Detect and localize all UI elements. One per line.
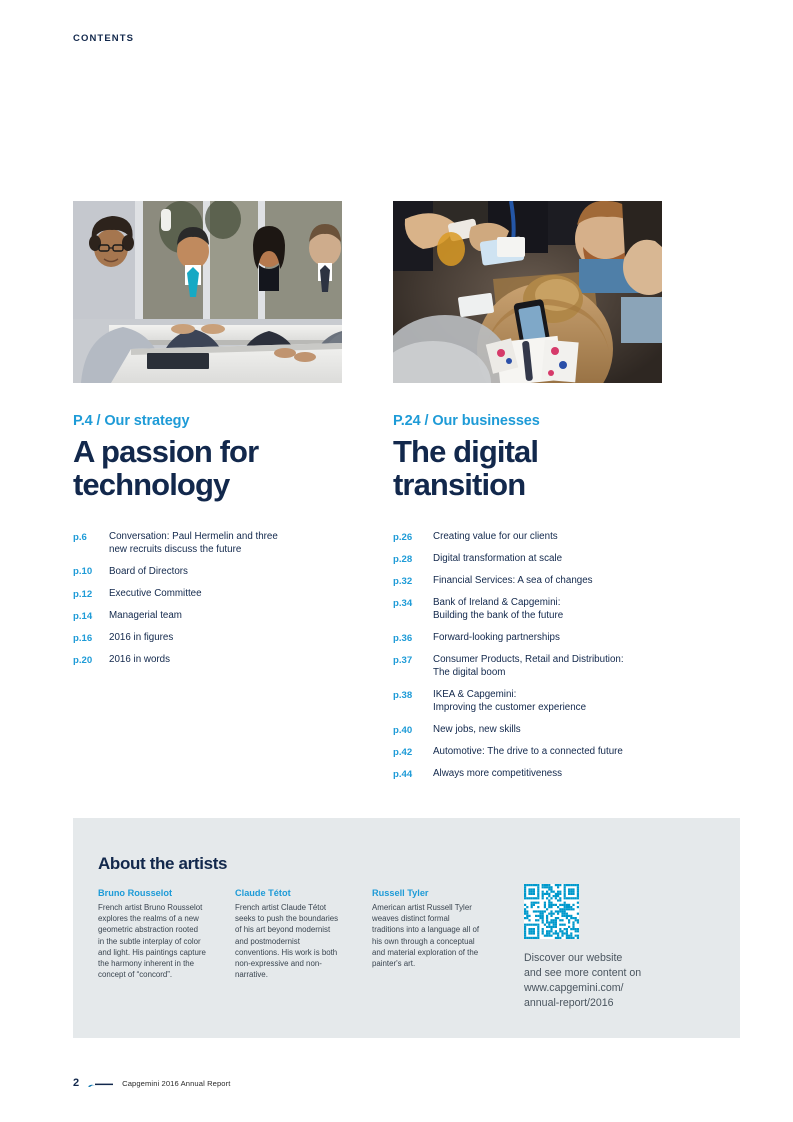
artist-name: Bruno Rousselot [98, 888, 206, 900]
website-promo-block: Discover our website and see more conten… [524, 884, 641, 1011]
page-footer: 2 Capgemini 2016 Annual Report [73, 1077, 230, 1089]
toc-list-our-businesses: p.26Creating value for our clientsp.28Di… [393, 531, 703, 791]
toc-entry-title: Board of Directors [109, 566, 383, 579]
photo-our-businesses [393, 201, 662, 383]
toc-entry[interactable]: p.32Financial Services: A sea of changes [393, 575, 703, 588]
toc-entry[interactable]: p.6Conversation: Paul Hermelin and three… [73, 531, 383, 557]
toc-entry-page: p.28 [393, 553, 433, 566]
toc-entry-title: Conversation: Paul Hermelin and three ne… [109, 531, 383, 557]
toc-entry-page: p.26 [393, 531, 433, 544]
toc-entry-title: 2016 in words [109, 654, 383, 667]
column-our-strategy: P.4 / Our strategy A passion for technol… [73, 414, 373, 501]
artist-block-bruno-rousselot: Bruno Rousselot French artist Bruno Rous… [98, 888, 206, 980]
toc-entry-page: p.37 [393, 654, 433, 667]
toc-entry-page: p.32 [393, 575, 433, 588]
artist-block-russell-tyler: Russell Tyler American artist Russell Ty… [372, 888, 480, 969]
footer-page-number: 2 [73, 1077, 79, 1089]
toc-list-our-strategy: p.6Conversation: Paul Hermelin and three… [73, 531, 383, 677]
toc-entry[interactable]: p.10Board of Directors [73, 566, 383, 579]
toc-entry-page: p.20 [73, 654, 109, 667]
toc-entry-title: Executive Committee [109, 588, 383, 601]
column-our-businesses: P.24 / Our businesses The digital transi… [393, 414, 693, 501]
toc-entry[interactable]: p.37Consumer Products, Retail and Distri… [393, 654, 703, 680]
toc-entry-title: Consumer Products, Retail and Distributi… [433, 654, 703, 680]
artist-bio: French artist Bruno Rousselot explores t… [98, 902, 206, 981]
artist-name: Russell Tyler [372, 888, 480, 900]
toc-entry[interactable]: p.202016 in words [73, 654, 383, 667]
toc-entry-title: Creating value for our clients [433, 531, 703, 544]
toc-entry-title: 2016 in figures [109, 632, 383, 645]
photo-our-strategy-image [73, 201, 342, 383]
artists-panel-title: About the artists [98, 854, 227, 874]
toc-entry-title: Managerial team [109, 610, 383, 623]
toc-entry[interactable]: p.40New jobs, new skills [393, 724, 703, 737]
footer-text: Capgemini 2016 Annual Report [122, 1079, 230, 1088]
toc-entry[interactable]: p.12Executive Committee [73, 588, 383, 601]
toc-entry[interactable]: p.44Always more competitiveness [393, 768, 703, 781]
toc-entry-title: Bank of Ireland & Capgemini: Building th… [433, 597, 703, 623]
toc-entry[interactable]: p.38IKEA & Capgemini: Improving the cust… [393, 689, 703, 715]
toc-entry[interactable]: p.34Bank of Ireland & Capgemini: Buildin… [393, 597, 703, 623]
capgemini-logo-icon [87, 1078, 115, 1089]
toc-entry-title: Always more competitiveness [433, 768, 703, 781]
toc-entry-page: p.14 [73, 610, 109, 623]
toc-entry-page: p.6 [73, 531, 109, 544]
photo-our-strategy [73, 201, 342, 383]
about-the-artists-panel: About the artists Bruno Rousselot French… [73, 818, 740, 1038]
toc-entry-page: p.40 [393, 724, 433, 737]
toc-entry-page: p.34 [393, 597, 433, 610]
page-section-label: CONTENTS [73, 33, 134, 44]
toc-entry[interactable]: p.42Automotive: The drive to a connected… [393, 746, 703, 759]
toc-entry-title: New jobs, new skills [433, 724, 703, 737]
toc-entry-page: p.44 [393, 768, 433, 781]
toc-entry-page: p.36 [393, 632, 433, 645]
toc-entry-page: p.38 [393, 689, 433, 702]
kicker-our-businesses: P.24 / Our businesses [393, 414, 693, 430]
artist-name: Claude Tétot [235, 888, 343, 900]
toc-entry-title: Digital transformation at scale [433, 553, 703, 566]
toc-entry[interactable]: p.28Digital transformation at scale [393, 553, 703, 566]
toc-entry-page: p.10 [73, 566, 109, 579]
toc-entry-page: p.16 [73, 632, 109, 645]
toc-entry[interactable]: p.14Managerial team [73, 610, 383, 623]
qr-code-icon[interactable] [524, 884, 579, 939]
toc-entry[interactable]: p.36Forward-looking partnerships [393, 632, 703, 645]
toc-entry[interactable]: p.26Creating value for our clients [393, 531, 703, 544]
website-promo-text: Discover our website and see more conten… [524, 951, 641, 1011]
toc-entry-title: IKEA & Capgemini: Improving the customer… [433, 689, 703, 715]
toc-entry[interactable]: p.162016 in figures [73, 632, 383, 645]
artist-bio: French artist Claude Tétot seeks to push… [235, 902, 343, 981]
artist-block-claude-tetot: Claude Tétot French artist Claude Tétot … [235, 888, 343, 980]
kicker-our-strategy: P.4 / Our strategy [73, 414, 373, 430]
toc-entry-page: p.12 [73, 588, 109, 601]
toc-entry-title: Forward-looking partnerships [433, 632, 703, 645]
photo-our-businesses-image [393, 201, 662, 383]
headline-our-strategy: A passion for technology [73, 435, 373, 501]
headline-our-businesses: The digital transition [393, 435, 693, 501]
artist-bio: American artist Russell Tyler weaves dis… [372, 902, 480, 969]
toc-entry-title: Automotive: The drive to a connected fut… [433, 746, 703, 759]
toc-entry-title: Financial Services: A sea of changes [433, 575, 703, 588]
toc-entry-page: p.42 [393, 746, 433, 759]
